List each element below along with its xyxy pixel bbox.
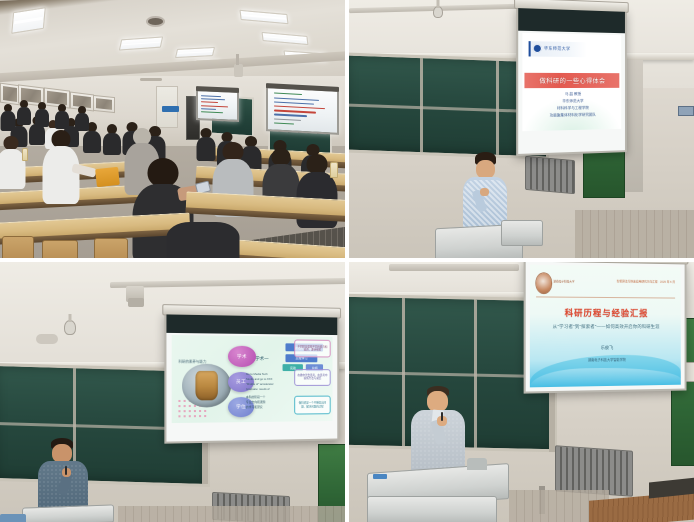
bubble-node: 学术 <box>228 346 256 367</box>
photo-bottom-right-speaker[interactable]: 湖南电子科技大学 智能算法与快速应用研究方向汇报 · 2025 年 6 月 科研… <box>349 262 694 522</box>
slide-content: 科研的素养与能力 高效学术一 学术 员工 学位 Go to Media Tech… <box>172 335 333 423</box>
slide-logo-bar: 华东师范大学 <box>529 41 587 57</box>
ceiling-vent-icon <box>148 18 163 25</box>
slide-content: 湖南电子科技大学 智能算法与快速应用研究方向汇报 · 2025 年 6 月 科研… <box>530 265 681 388</box>
slide-header-right: 智能算法与快速应用研究方向汇报 · 2025 年 6 月 <box>617 279 675 284</box>
projector-icon <box>234 64 243 77</box>
slide-bullets-bottom: 本科的阶段一个 专业方向和课题 的学习和研究 <box>246 396 287 409</box>
snack-bag <box>95 167 120 187</box>
slide-callout: 在做中学会思考，在思考中提炼方法与总结 <box>294 369 331 386</box>
student-figure <box>74 106 89 130</box>
microphone-icon <box>65 466 67 475</box>
student-figure-foreground <box>166 222 240 258</box>
student-figure <box>34 102 49 126</box>
security-camera-icon <box>64 320 76 335</box>
podium-side <box>501 220 543 246</box>
slide-callout: 做科研是一个不断提出问题、解决问题的过程 <box>294 396 331 415</box>
photo-collage: 华东师范大学 做科研的一些心得体会 马 喆 教授 华东师范大学 材料科学与工程学… <box>0 0 694 522</box>
screen-mask <box>518 8 625 33</box>
radiator <box>555 445 633 496</box>
classroom-front-scene: 科研的素养与能力 高效学术一 学术 员工 学位 Go to Media Tech… <box>0 262 345 522</box>
projection-screen-right <box>266 86 339 135</box>
slide-subtitle: 从“学习者”到“探索者”——如何高效开启你的科研生涯 <box>536 324 675 330</box>
radiator <box>525 156 575 194</box>
wall-bracket <box>128 298 144 307</box>
student-figure <box>16 100 31 124</box>
slide-body: 马 喆 教授 华东师范大学 材料科学与工程学院 功能聚集体材料化学研究团队 <box>522 91 621 119</box>
ceiling-pipe <box>389 264 519 271</box>
podium-monitor <box>0 514 26 522</box>
slide-line: 功能聚集体材料化学研究团队 <box>550 113 596 119</box>
bullet: Graduate: needs of <box>246 388 287 392</box>
bullet: Studio and go to XXX <box>246 378 287 381</box>
photo-bottom-left-speaker[interactable]: 科研的素养与能力 高效学术一 学术 员工 学位 Go to Media Tech… <box>0 262 345 522</box>
slide-presenter: 乐俊飞 <box>530 345 681 352</box>
bullet: "Middle of" accelerator <box>246 383 287 387</box>
projection-screen: 湖南电子科技大学 智能算法与快速应用研究方向汇报 · 2025 年 6 月 科研… <box>524 262 687 394</box>
exit-sign-icon <box>162 106 179 112</box>
water-bottle <box>22 148 28 161</box>
hand <box>480 188 489 196</box>
slide-content: 华东师范大学 做科研的一些心得体会 马 喆 教授 华东师范大学 材料科学与工程学… <box>522 33 621 131</box>
ceiling-fan-icon <box>140 78 162 81</box>
slide-title: 科研历程与经验汇报 <box>530 306 681 319</box>
student-figure <box>54 104 69 128</box>
podium-indicator <box>373 474 387 479</box>
wall-fixture <box>36 334 58 344</box>
slide-bullets-top: Go to Media Tech Studio and go to XXX "M… <box>246 373 287 391</box>
face <box>427 391 448 412</box>
microphone-icon <box>441 412 443 421</box>
bullet: 的学习和研究 <box>246 406 287 410</box>
student-figure <box>0 136 26 188</box>
screen-case <box>196 86 239 93</box>
slide-line: 华东师范大学 <box>562 99 583 104</box>
slide-line: 马 喆 教授 <box>565 92 581 97</box>
chair <box>94 238 128 258</box>
chair <box>2 236 34 258</box>
floor-tiles <box>118 506 345 522</box>
door-frame <box>625 60 643 192</box>
slide-title-bar: 做科研的一些心得体会 <box>524 73 619 88</box>
classroom-front-scene: 湖南电子科技大学 智能算法与快速应用研究方向汇报 · 2025 年 6 月 科研… <box>349 262 694 522</box>
globe-illustration-icon <box>182 363 232 407</box>
university-seal-icon <box>533 44 542 53</box>
slide-callout: 不同阶段需要不同的能力和素养，逐步积累 <box>294 340 331 357</box>
water-bottle <box>330 162 338 178</box>
photo-top-left-lecture-hall[interactable] <box>0 0 345 258</box>
wall-cabinet <box>93 95 115 113</box>
podium-base <box>367 496 497 522</box>
student-figure <box>0 104 16 130</box>
classroom-front-scene: 华东师范大学 做科研的一些心得体会 马 喆 教授 华东师范大学 材料科学与工程学… <box>349 0 694 258</box>
university-seal-icon <box>536 273 552 293</box>
slide-line: 材料科学与工程学院 <box>557 106 589 111</box>
screen-mask <box>166 314 337 335</box>
university-name: 华东师范大学 <box>544 46 570 52</box>
podium-chair <box>467 458 487 470</box>
chair <box>42 240 78 258</box>
floor-tiles <box>575 210 694 258</box>
projection-screen: 科研的素养与能力 高效学术一 学术 员工 学位 Go to Media Tech… <box>164 312 339 443</box>
divider <box>536 297 675 299</box>
lecture-hall-scene <box>0 0 345 258</box>
student-figure <box>102 124 121 154</box>
security-camera-icon <box>433 6 443 18</box>
slide-title: 做科研的一些心得体会 <box>539 76 605 85</box>
wall-plate <box>678 106 694 116</box>
projection-screen-left <box>196 89 239 122</box>
university-name: 湖南电子科技大学 <box>553 280 574 284</box>
photo-top-right-speaker[interactable]: 华东师范大学 做科研的一些心得体会 马 喆 教授 华东师范大学 材料科学与工程学… <box>349 0 694 258</box>
podium <box>22 504 114 522</box>
slide-label-left: 科研的素养与能力 <box>178 359 206 364</box>
bullet: Go to Media Tech <box>246 373 287 377</box>
projection-screen: 华东师范大学 做科研的一些心得体会 马 喆 教授 华东师范大学 材料科学与工程学… <box>516 6 627 156</box>
